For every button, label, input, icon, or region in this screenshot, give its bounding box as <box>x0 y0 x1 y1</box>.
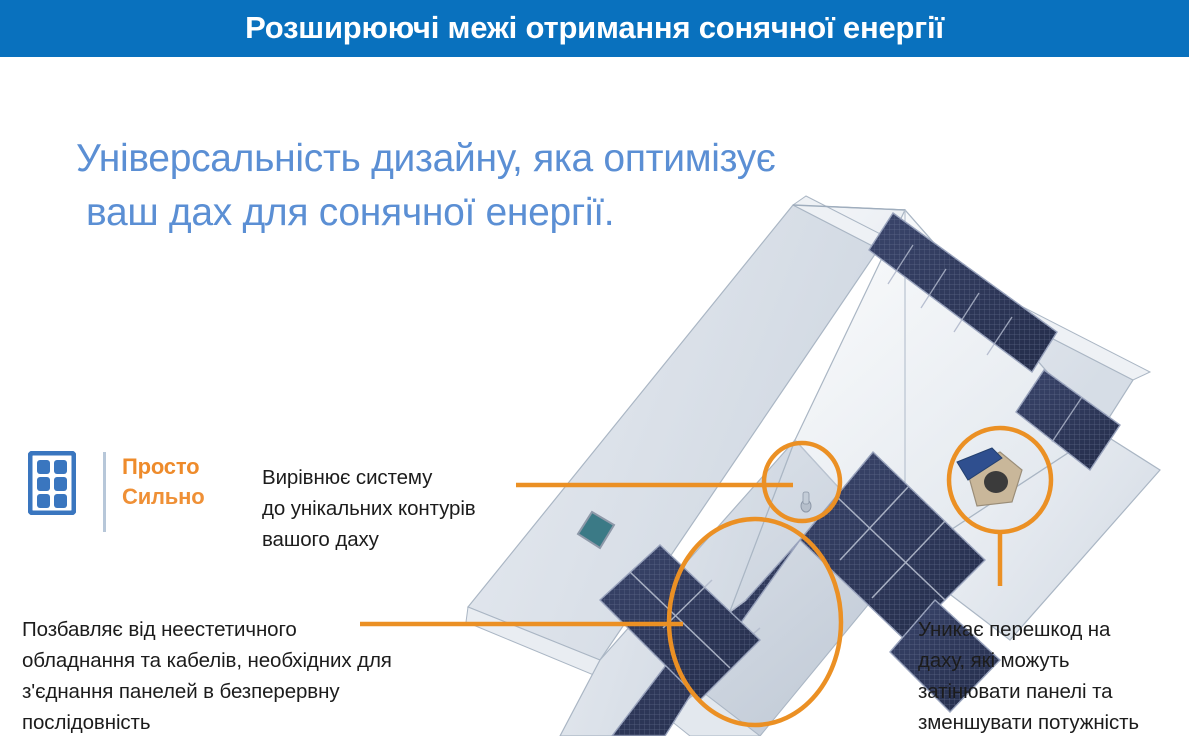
callout-obstacles-line-2: даху, які можуть <box>918 645 1189 676</box>
callout-clutter-line-1: Позбавляє від неестетичного <box>22 614 492 645</box>
callout-avoid-obstacles: Уникає перешкод на даху, які можуть заті… <box>918 614 1189 736</box>
solar-panel-icon <box>28 451 76 515</box>
callout-clutter-line-3: з'єднання панелей в безперервну <box>22 676 492 707</box>
logo-word-prosto: Просто <box>122 452 252 482</box>
slide-root: Розширюючі межі отримання сонячної енерг… <box>0 0 1189 736</box>
callout-align-system: Вирівнює систему до унікальних контурів … <box>262 462 552 555</box>
brand-logo: Просто Сильно <box>28 448 228 536</box>
callout-obstacles-line-3: затінювати панелі та <box>918 676 1189 707</box>
callout-align-line-1: Вирівнює систему <box>262 462 552 493</box>
callout-align-line-2: до унікальних контурів <box>262 493 552 524</box>
logo-divider <box>103 452 106 532</box>
logo-wordmark: Просто Сильно <box>122 452 252 512</box>
callout-clutter-line-2: обладнання та кабелів, необхідних для <box>22 645 492 676</box>
callout-obstacles-line-4: зменшувати потужність <box>918 707 1189 736</box>
callout-no-clutter: Позбавляє від неестетичного обладнання т… <box>22 614 492 736</box>
callout-clutter-line-4: послідовність <box>22 707 492 736</box>
callout-obstacles-line-1: Уникає перешкод на <box>918 614 1189 645</box>
callout-align-line-3: вашого даху <box>262 524 552 555</box>
logo-word-silno: Сильно <box>122 482 252 512</box>
